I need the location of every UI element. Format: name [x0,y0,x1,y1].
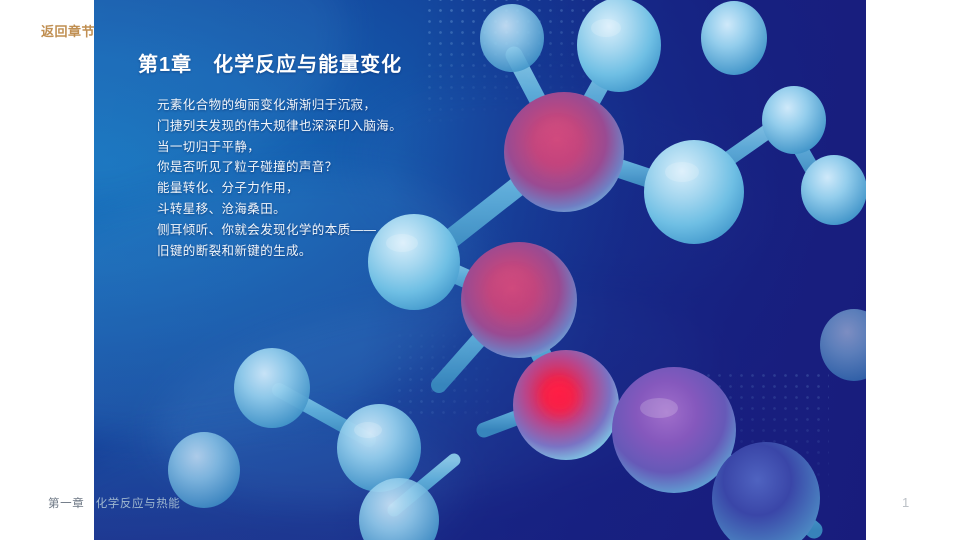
text-layer: 返回章节 第1章 化学反应与能量变化 元素化合物的绚丽变化渐渐归于沉寂， 门捷列… [0,0,960,540]
poem-body: 元素化合物的绚丽变化渐渐归于沉寂， 门捷列夫发现的伟大规律也深深印入脑海。 当一… [157,95,577,261]
footer-chapter-name: 化学反应与热能 [96,498,181,510]
page-title: 第1章 化学反应与能量变化 [138,48,402,77]
poem-line: 侧耳倾听、你就会发现化学的本质—— [157,220,577,241]
footer-chapter-label: 第一章 [48,498,84,510]
poem-line: 旧键的断裂和新键的生成。 [157,241,577,262]
poem-line: 斗转星移、沧海桑田。 [157,199,577,220]
footer-chapter-note: 第一章 化学反应与热能 [48,495,180,511]
poem-line: 元素化合物的绚丽变化渐渐归于沉寂， [157,95,577,116]
back-to-chapters-link[interactable]: 返回章节 [41,21,95,40]
poem-line: 能量转化、分子力作用， [157,178,577,199]
slide-root: 返回章节 第1章 化学反应与能量变化 元素化合物的绚丽变化渐渐归于沉寂， 门捷列… [0,0,960,540]
poem-line: 当一切归于平静， [157,137,577,158]
poem-line: 门捷列夫发现的伟大规律也深深印入脑海。 [157,116,577,137]
poem-line: 你是否听见了粒子碰撞的声音？ [157,157,577,178]
page-number: 1 [902,495,910,510]
